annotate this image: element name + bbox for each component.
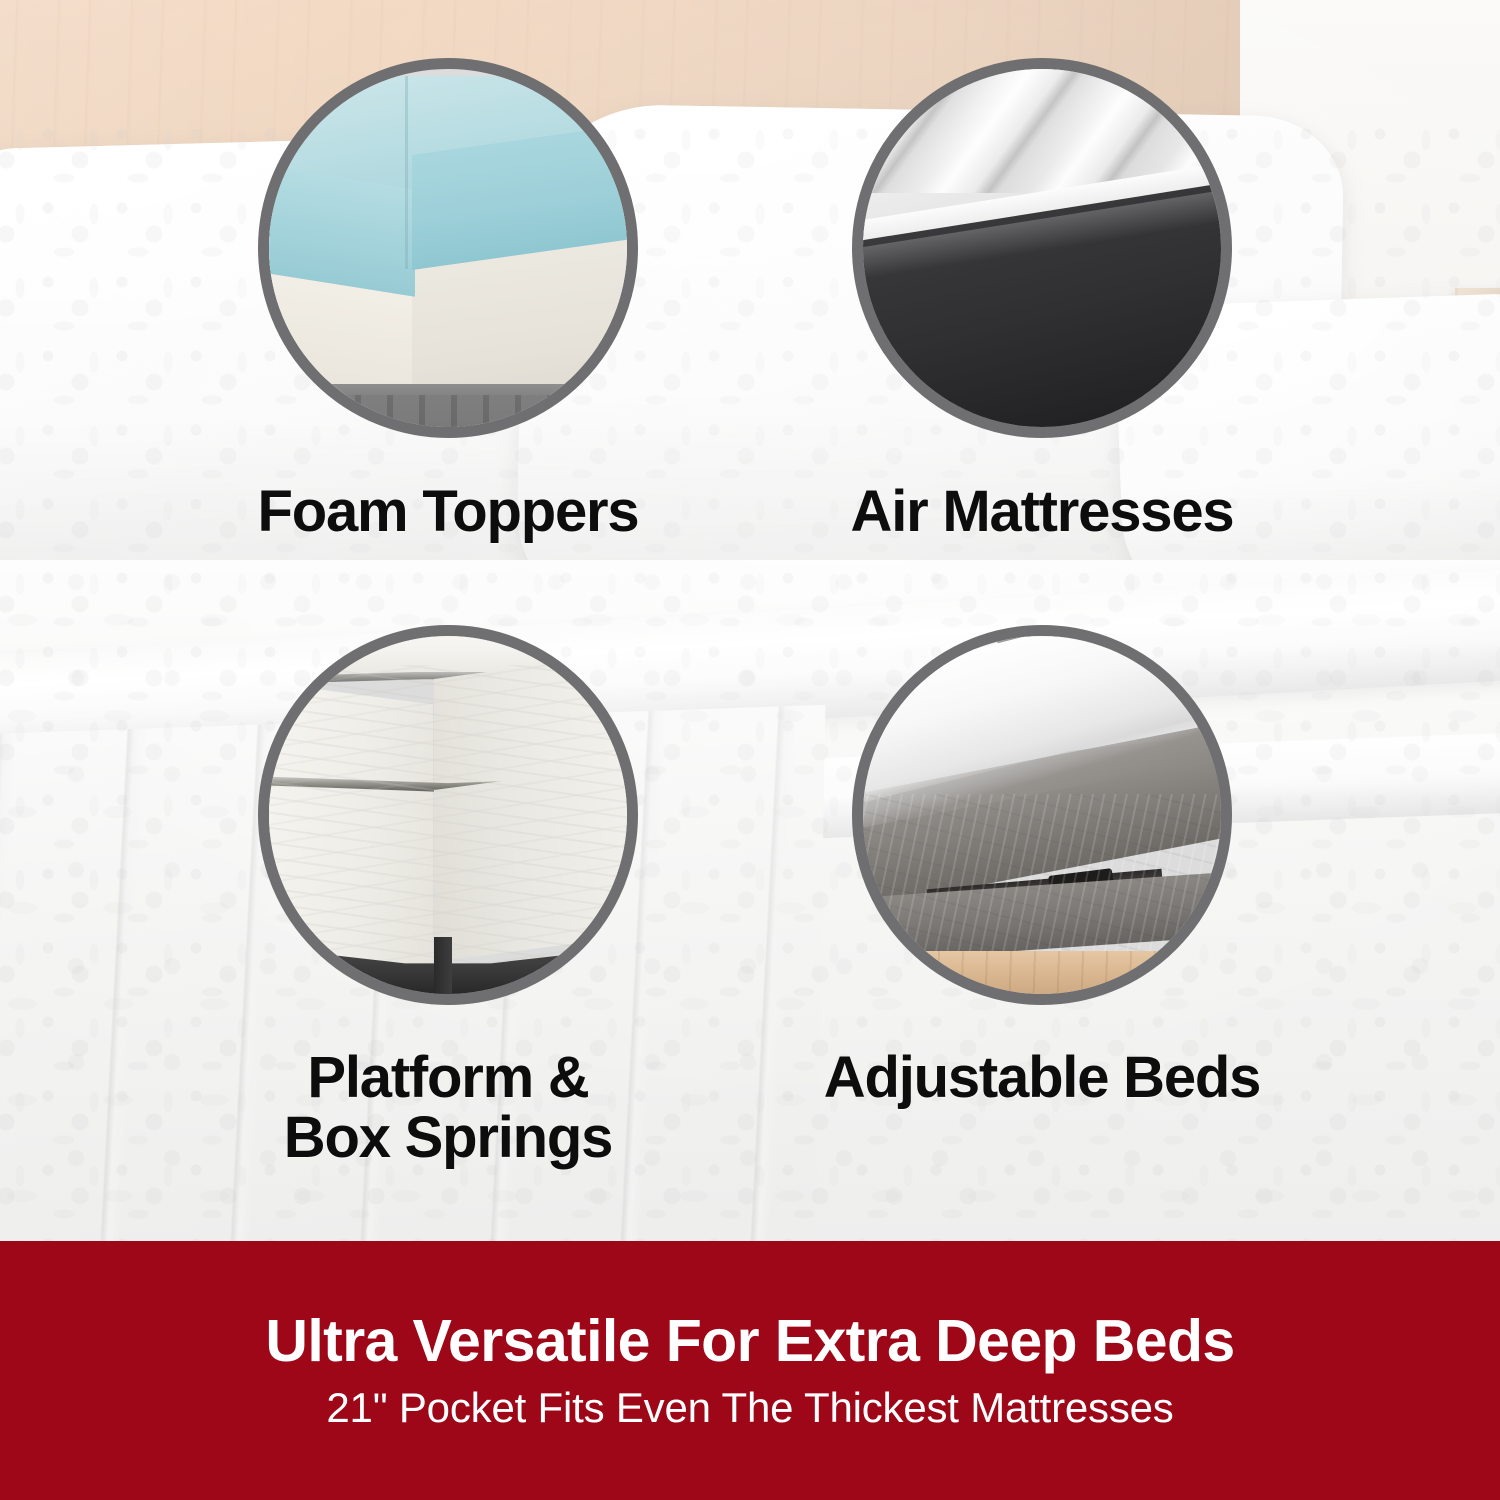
- callout-label-air-mattresses: Air Mattresses: [772, 482, 1312, 542]
- foam-corner-edge: [405, 76, 408, 269]
- callout-label-platform-box-springs: Platform & Box Springs: [198, 1048, 698, 1169]
- callout-circle-adjustable-beds: [852, 625, 1232, 1005]
- banner-subtitle: 21" Pocket Fits Even The Thickest Mattre…: [326, 1387, 1173, 1429]
- callout-circle-air-mattresses: [852, 58, 1232, 438]
- quilted-texture: [269, 665, 627, 973]
- box-spring-photo: [269, 636, 627, 994]
- bed-slats: [269, 395, 627, 427]
- bottom-banner: Ultra Versatile For Extra Deep Beds 21" …: [0, 1241, 1500, 1500]
- adjustable-base-fabric-texture: [863, 794, 1221, 973]
- callout-label-adjustable-beds: Adjustable Beds: [762, 1048, 1322, 1108]
- wood-floor-grain: [863, 951, 1221, 994]
- callout-circle-platform-box-springs: [258, 625, 638, 1005]
- product-feature-graphic: Foam Toppers Air Mattresses Platform & B…: [0, 0, 1500, 1500]
- adjustable-bed-photo: [863, 636, 1221, 994]
- callout-circle-foam-toppers: [258, 58, 638, 438]
- foam-topper-photo: [269, 69, 627, 427]
- air-mattress-photo: [863, 69, 1221, 427]
- platform-leg: [434, 937, 452, 994]
- banner-title: Ultra Versatile For Extra Deep Beds: [265, 1312, 1234, 1371]
- callout-label-foam-toppers: Foam Toppers: [178, 482, 718, 542]
